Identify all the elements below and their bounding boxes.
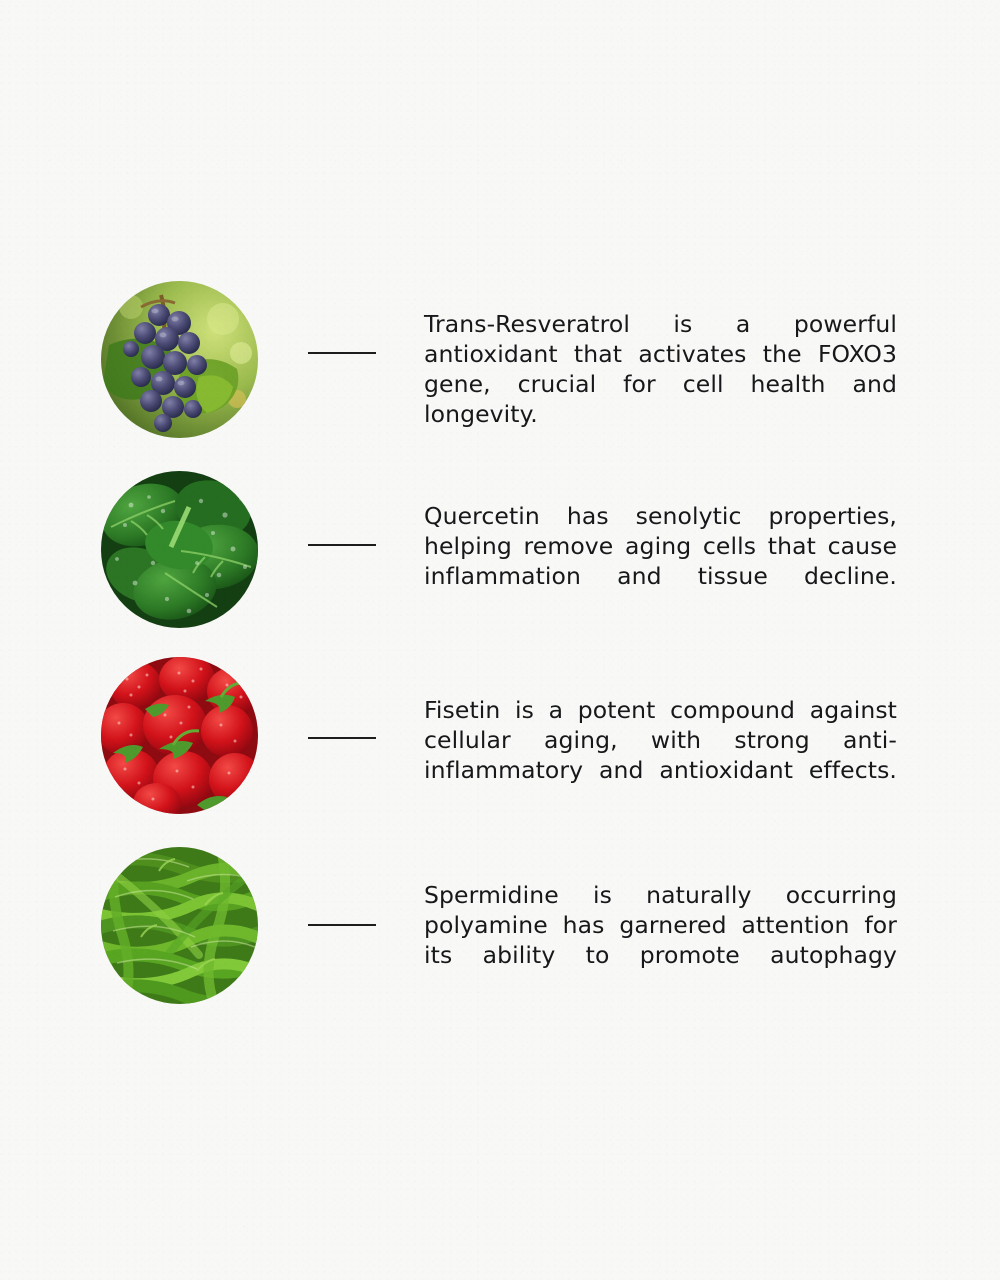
list-item: Fisetin is a potent compound against cel… (0, 657, 1000, 847)
connector-line (308, 352, 376, 354)
benefit-text: Trans-Resveratrol is a powerful antioxid… (424, 309, 897, 459)
list-item: Trans-Resveratrol is a powerful antioxid… (0, 281, 1000, 471)
benefit-text: Fisetin is a potent compound against cel… (424, 695, 897, 815)
connector-line (308, 737, 376, 739)
green-beans-illustration (101, 847, 258, 1004)
benefit-text: Quercetin has senolytic properties, help… (424, 501, 897, 621)
list-item: Spermidine is naturally occurring polyam… (0, 847, 1000, 1037)
spinach-illustration (101, 471, 258, 628)
strawberries-illustration (101, 657, 258, 814)
ingredient-benefits-infographic: Trans-Resveratrol is a powerful antioxid… (0, 0, 1000, 1280)
spinach-leaves-photo (101, 471, 258, 628)
grapes-illustration (101, 281, 258, 438)
benefit-text: Spermidine is naturally occurring polyam… (424, 880, 897, 1000)
grapes-on-vine-photo (101, 281, 258, 438)
connector-line (308, 544, 376, 546)
list-item: Quercetin has senolytic properties, help… (0, 471, 1000, 661)
green-beans-photo (101, 847, 258, 1004)
strawberries-photo (101, 657, 258, 814)
connector-line (308, 924, 376, 926)
